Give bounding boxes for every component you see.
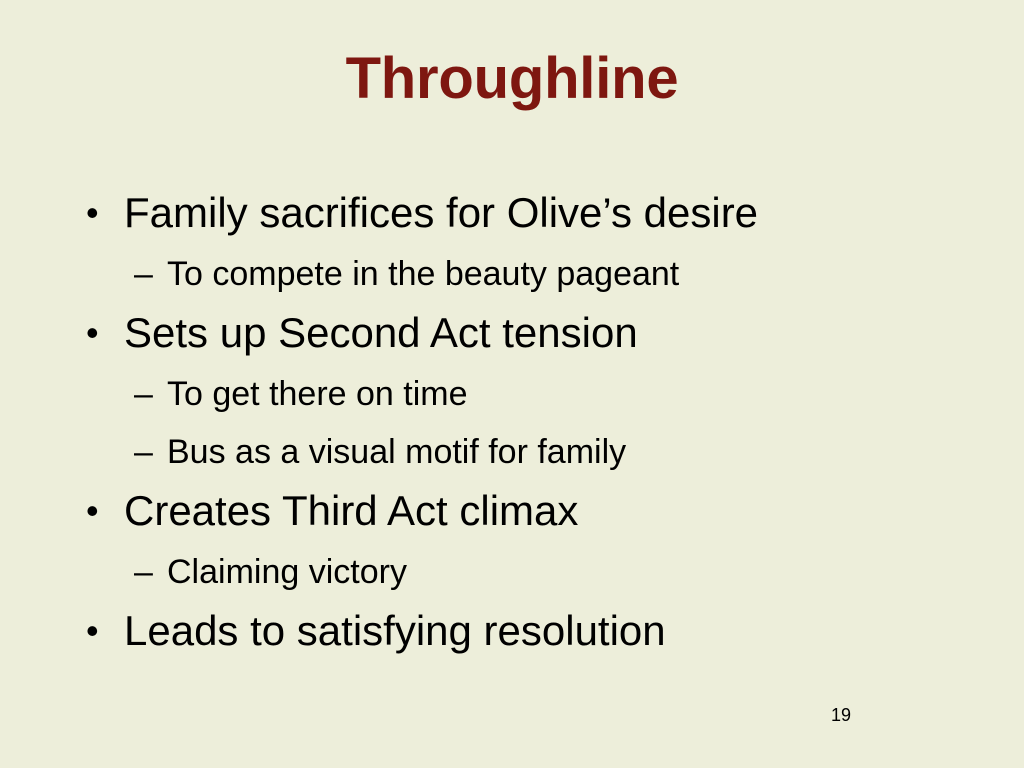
list-item-label: Family sacrifices for Olive’s desire (124, 183, 966, 243)
list-item: • Leads to satisfying resolution (86, 601, 966, 663)
dash-bullet-icon: – (134, 365, 167, 423)
list-item: • Sets up Second Act tension (86, 303, 966, 365)
dash-bullet-icon: – (134, 423, 167, 481)
list-item-label: Leads to satisfying resolution (124, 601, 966, 661)
bullet-icon: • (86, 183, 124, 243)
slide: Throughline • Family sacrifices for Oliv… (0, 0, 1024, 768)
list-item-label: To compete in the beauty pageant (167, 245, 966, 303)
page-number: 19 (831, 706, 851, 724)
list-item: – Bus as a visual motif for family (134, 423, 966, 481)
page-title: Throughline (0, 47, 1024, 112)
list-item: – To compete in the beauty pageant (134, 245, 966, 303)
bullet-icon: • (86, 481, 124, 541)
list-item-label: Creates Third Act climax (124, 481, 966, 541)
dash-bullet-icon: – (134, 245, 167, 303)
list-item-label: Claiming victory (167, 543, 966, 601)
list-item-label: Bus as a visual motif for family (167, 423, 966, 481)
list-item: • Creates Third Act climax (86, 481, 966, 543)
list-item: – Claiming victory (134, 543, 966, 601)
dash-bullet-icon: – (134, 543, 167, 601)
bullet-icon: • (86, 303, 124, 363)
list-item: • Family sacrifices for Olive’s desire (86, 183, 966, 245)
list-item: – To get there on time (134, 365, 966, 423)
list-item-label: To get there on time (167, 365, 966, 423)
list-item-label: Sets up Second Act tension (124, 303, 966, 363)
bullet-icon: • (86, 601, 124, 661)
bullet-list: • Family sacrifices for Olive’s desire –… (86, 183, 966, 663)
